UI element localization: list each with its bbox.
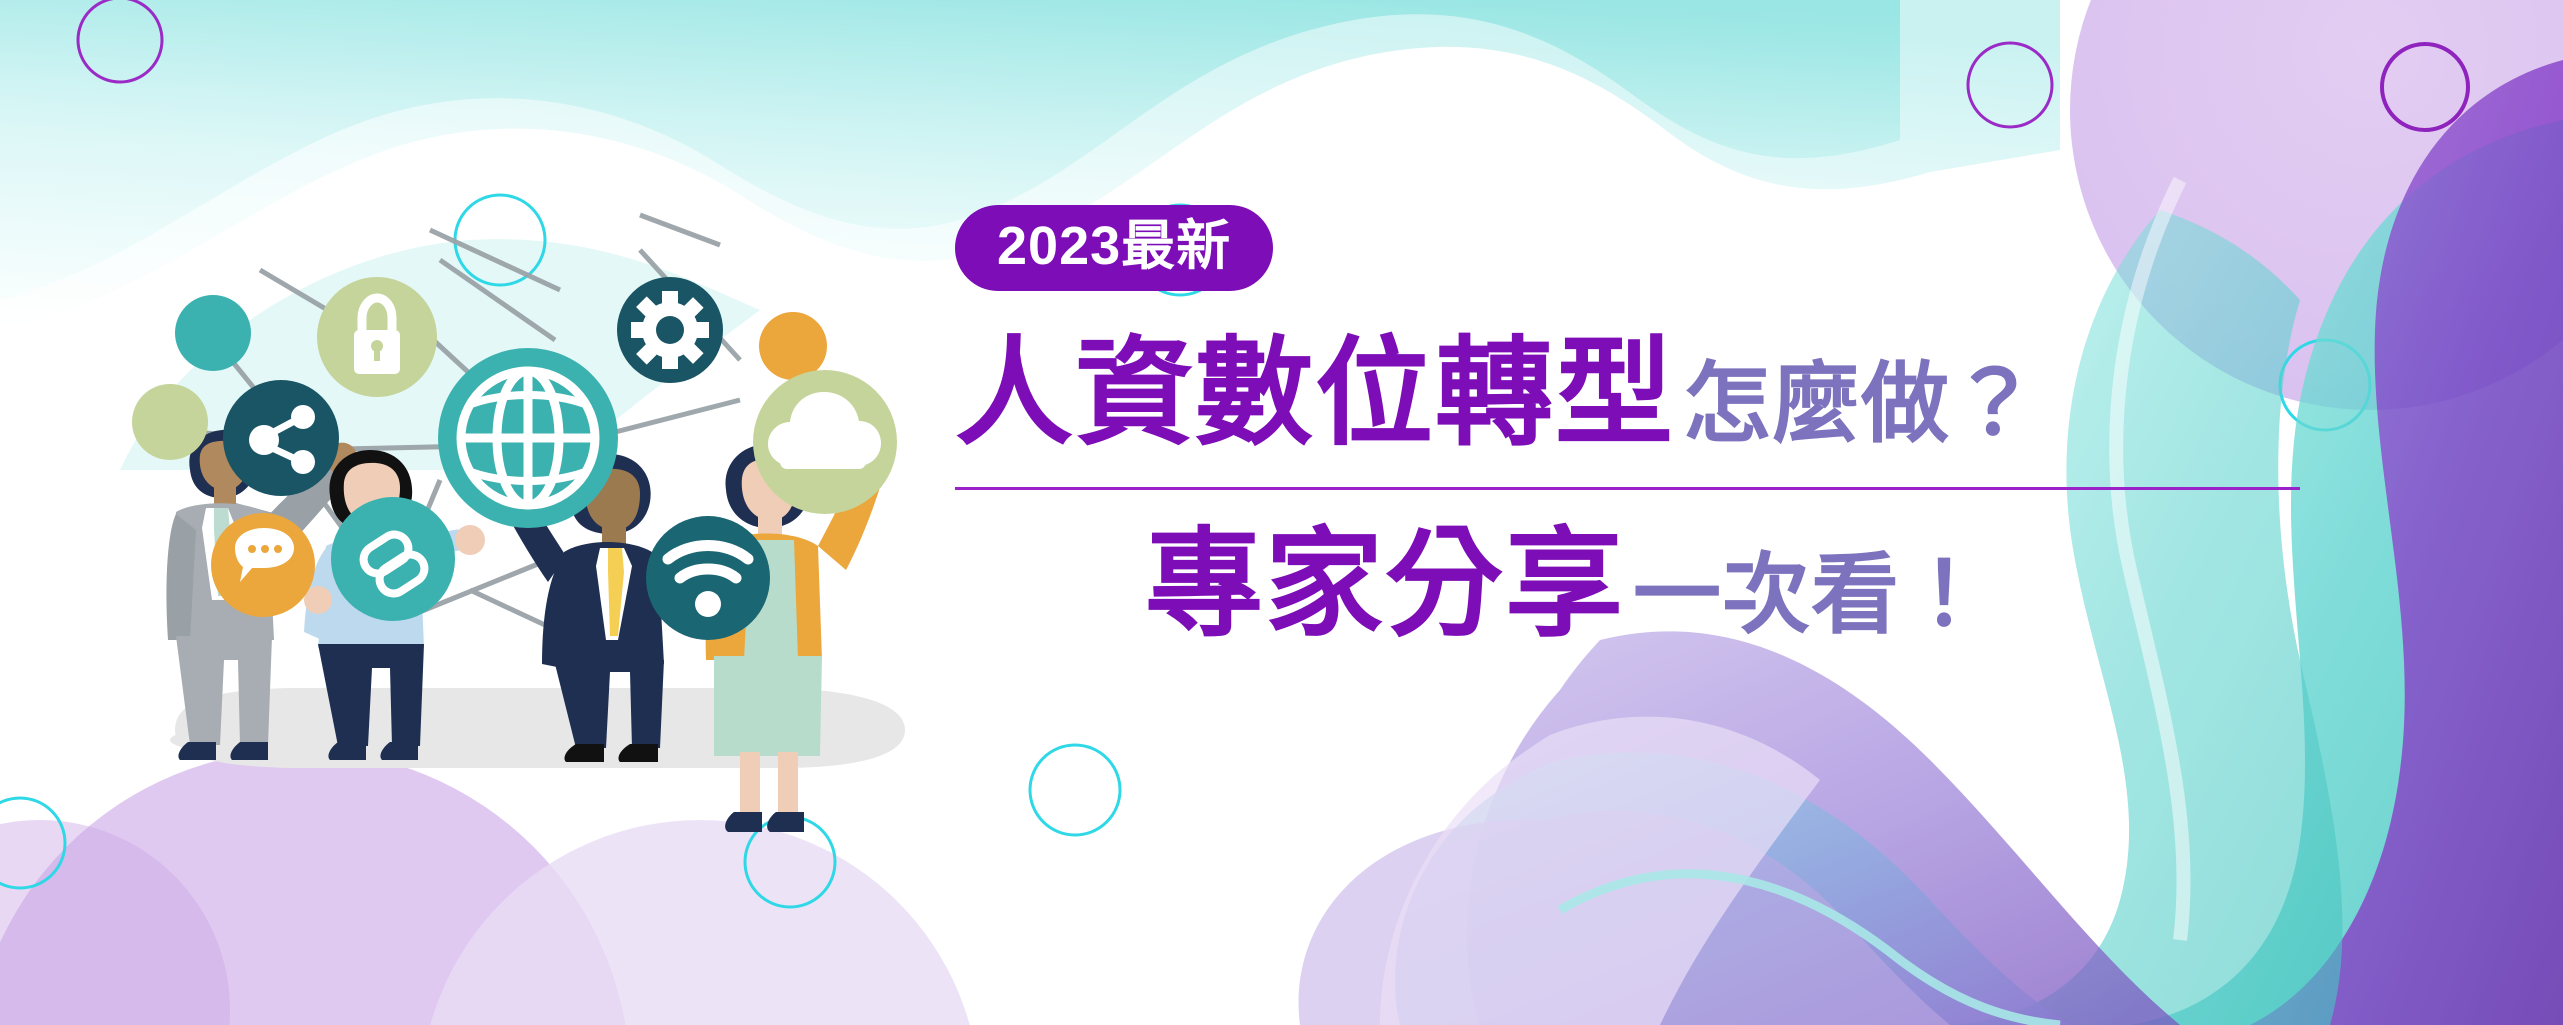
headline-text-block: 2023最新 人資數位轉型 怎麼做？ 專家分享 一次看！ — [955, 205, 2355, 685]
year-badge: 2023最新 — [955, 205, 1273, 291]
chat-bubble-icon — [211, 513, 315, 617]
headline-line-1: 人資數位轉型 怎麼做？ — [955, 333, 2355, 457]
plain-dot-sage-icon — [132, 384, 208, 460]
cloud-icon — [753, 370, 897, 514]
gear-icon — [617, 277, 723, 383]
headline-line-2: 專家分享 一次看！ — [955, 524, 2355, 648]
lock-icon — [317, 277, 437, 397]
headline-line2-secondary: 一次看！ — [1633, 549, 1989, 641]
plain-dot-orange-icon — [759, 312, 827, 380]
share-icon — [223, 380, 339, 496]
headline-divider — [955, 487, 2300, 490]
wifi-icon — [646, 516, 770, 640]
headline-line1-primary: 人資數位轉型 — [955, 333, 1675, 457]
link-icon — [331, 497, 455, 621]
globe-icon — [438, 348, 618, 528]
headline-line2-primary: 專家分享 — [1145, 524, 1625, 648]
headline-line1-secondary: 怎麼做？ — [1683, 358, 2039, 450]
promo-banner: 2023最新 人資數位轉型 怎麼做？ 專家分享 一次看！ — [0, 0, 2563, 1025]
plain-dot-teal-icon — [175, 295, 251, 371]
